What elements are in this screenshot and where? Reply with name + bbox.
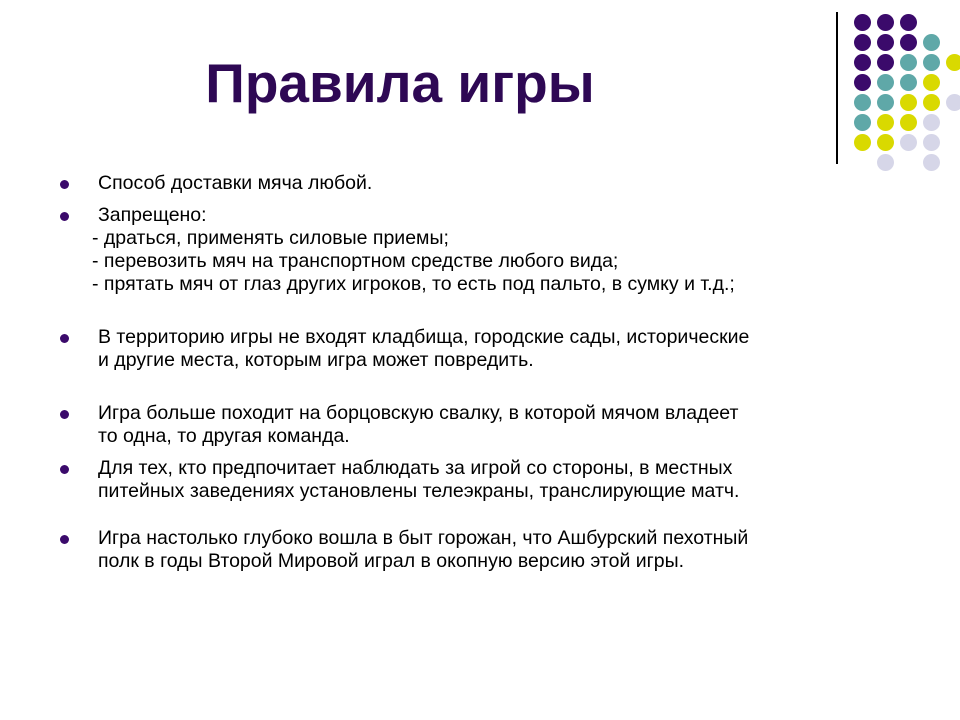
- sub-item-text: - драться, применять силовые приемы;: [92, 227, 932, 250]
- bullet-icon: [60, 334, 69, 343]
- list-item-text: то одна, то другая команда.: [98, 425, 932, 448]
- dot-purple: [877, 14, 894, 31]
- dot-teal: [900, 74, 917, 91]
- dot-purple: [854, 54, 871, 71]
- dot-lavender: [946, 94, 960, 111]
- dot-purple: [854, 74, 871, 91]
- bullet-icon: [60, 465, 69, 474]
- list-item-text: В территорию игры не входят кладбища, го…: [98, 326, 932, 349]
- list-item: Способ доставки мяча любой.: [52, 172, 932, 195]
- dot-yellow: [923, 94, 940, 111]
- dot-yellow: [877, 134, 894, 151]
- dot-purple: [900, 34, 917, 51]
- dot-teal: [923, 34, 940, 51]
- bullet-icon: [60, 535, 69, 544]
- spacer: [52, 448, 932, 457]
- dot-teal: [854, 94, 871, 111]
- vertical-rule: [836, 12, 838, 164]
- rules-list: Способ доставки мяча любой. Запрещено: -…: [52, 172, 932, 573]
- dot-yellow: [900, 114, 917, 131]
- dot-teal: [877, 94, 894, 111]
- list-item: Игра больше походит на борцовскую свалку…: [52, 402, 932, 448]
- list-item: Запрещено: - драться, применять силовые …: [52, 204, 932, 296]
- list-item: В территорию игры не входят кладбища, го…: [52, 326, 932, 372]
- page-title: Правила игры: [0, 55, 800, 113]
- spacer: [52, 195, 932, 204]
- bullet-icon: [60, 212, 69, 221]
- list-item-text: Для тех, кто предпочитает наблюдать за и…: [98, 457, 932, 480]
- dot-yellow: [877, 114, 894, 131]
- list-item-text: Запрещено:: [98, 204, 932, 227]
- dot-teal: [900, 54, 917, 71]
- dot-lavender: [923, 154, 940, 171]
- list-item-text: и другие места, которым игра может повре…: [98, 349, 932, 372]
- dot-teal: [854, 114, 871, 131]
- list-item-text: Игра больше походит на борцовскую свалку…: [98, 402, 932, 425]
- list-item-text: Способ доставки мяча любой.: [98, 172, 932, 195]
- spacer: [52, 372, 932, 402]
- dot-purple: [900, 14, 917, 31]
- dot-purple: [854, 34, 871, 51]
- list-item-text: питейных заведениях установлены телеэкра…: [98, 480, 932, 503]
- dot-yellow: [854, 134, 871, 151]
- presentation-slide: Правила игры Способ доставки мяча любой.…: [0, 0, 960, 720]
- list-item-text: Игра настолько глубоко вошла в быт горож…: [98, 527, 932, 550]
- list-item-text: полк в годы Второй Мировой играл в окопн…: [98, 550, 932, 573]
- sub-item-text: - прятать мяч от глаз других игроков, то…: [92, 273, 932, 296]
- dot-teal: [923, 54, 940, 71]
- spacer: [52, 503, 932, 527]
- dot-yellow: [946, 54, 960, 71]
- sub-item-text: - перевозить мяч на транспортном средств…: [92, 250, 932, 273]
- bullet-icon: [60, 410, 69, 419]
- dot-purple: [877, 34, 894, 51]
- dot-purple: [854, 14, 871, 31]
- list-item: Игра настолько глубоко вошла в быт горож…: [52, 527, 932, 573]
- bullet-icon: [60, 180, 69, 189]
- dot-yellow: [900, 94, 917, 111]
- dot-lavender: [877, 154, 894, 171]
- list-item: Для тех, кто предпочитает наблюдать за и…: [52, 457, 932, 503]
- spacer: [52, 296, 932, 326]
- dot-lavender: [923, 114, 940, 131]
- dot-lavender: [923, 134, 940, 151]
- dot-lavender: [900, 134, 917, 151]
- dot-yellow: [923, 74, 940, 91]
- dot-teal: [877, 74, 894, 91]
- dot-purple: [877, 54, 894, 71]
- dot-matrix-graphic: [836, 12, 960, 164]
